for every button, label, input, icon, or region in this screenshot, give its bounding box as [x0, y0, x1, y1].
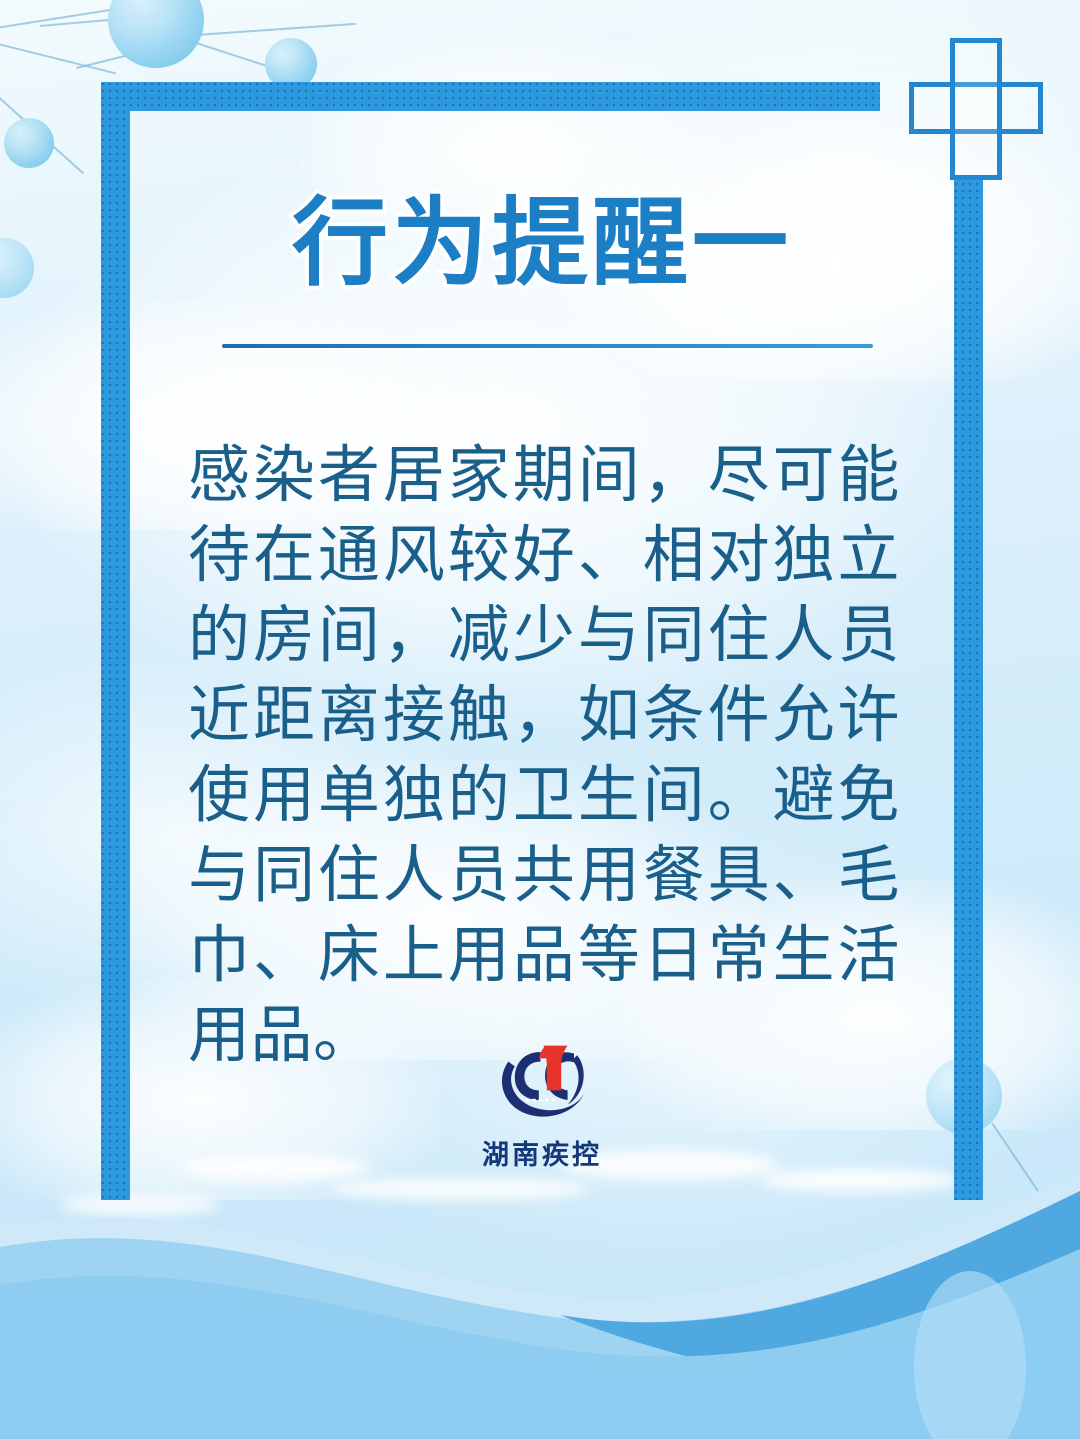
frame-border-top — [101, 82, 880, 111]
page-title: 行为提醒一 — [130, 196, 954, 292]
cross-center-patch — [955, 87, 997, 129]
poster-canvas: 行为提醒一 感染者居家期间，尽可能待在通风较好、相对独立的房间，减少与同住人员近… — [0, 0, 1080, 1439]
title-divider — [222, 344, 873, 348]
frame-border-left — [101, 82, 130, 1200]
logo-caption: 湖南疾控 — [130, 1133, 954, 1172]
cdc-logo-icon — [494, 1037, 590, 1123]
logo-block: 湖南疾控 — [130, 1037, 954, 1172]
body-paragraph: 感染者居家期间，尽可能待在通风较好、相对独立的房间，减少与同住人员近距离接触，如… — [188, 436, 900, 1076]
poster-content: 行为提醒一 感染者居家期间，尽可能待在通风较好、相对独立的房间，减少与同住人员近… — [130, 111, 954, 1200]
frame-border-right — [954, 175, 983, 1200]
